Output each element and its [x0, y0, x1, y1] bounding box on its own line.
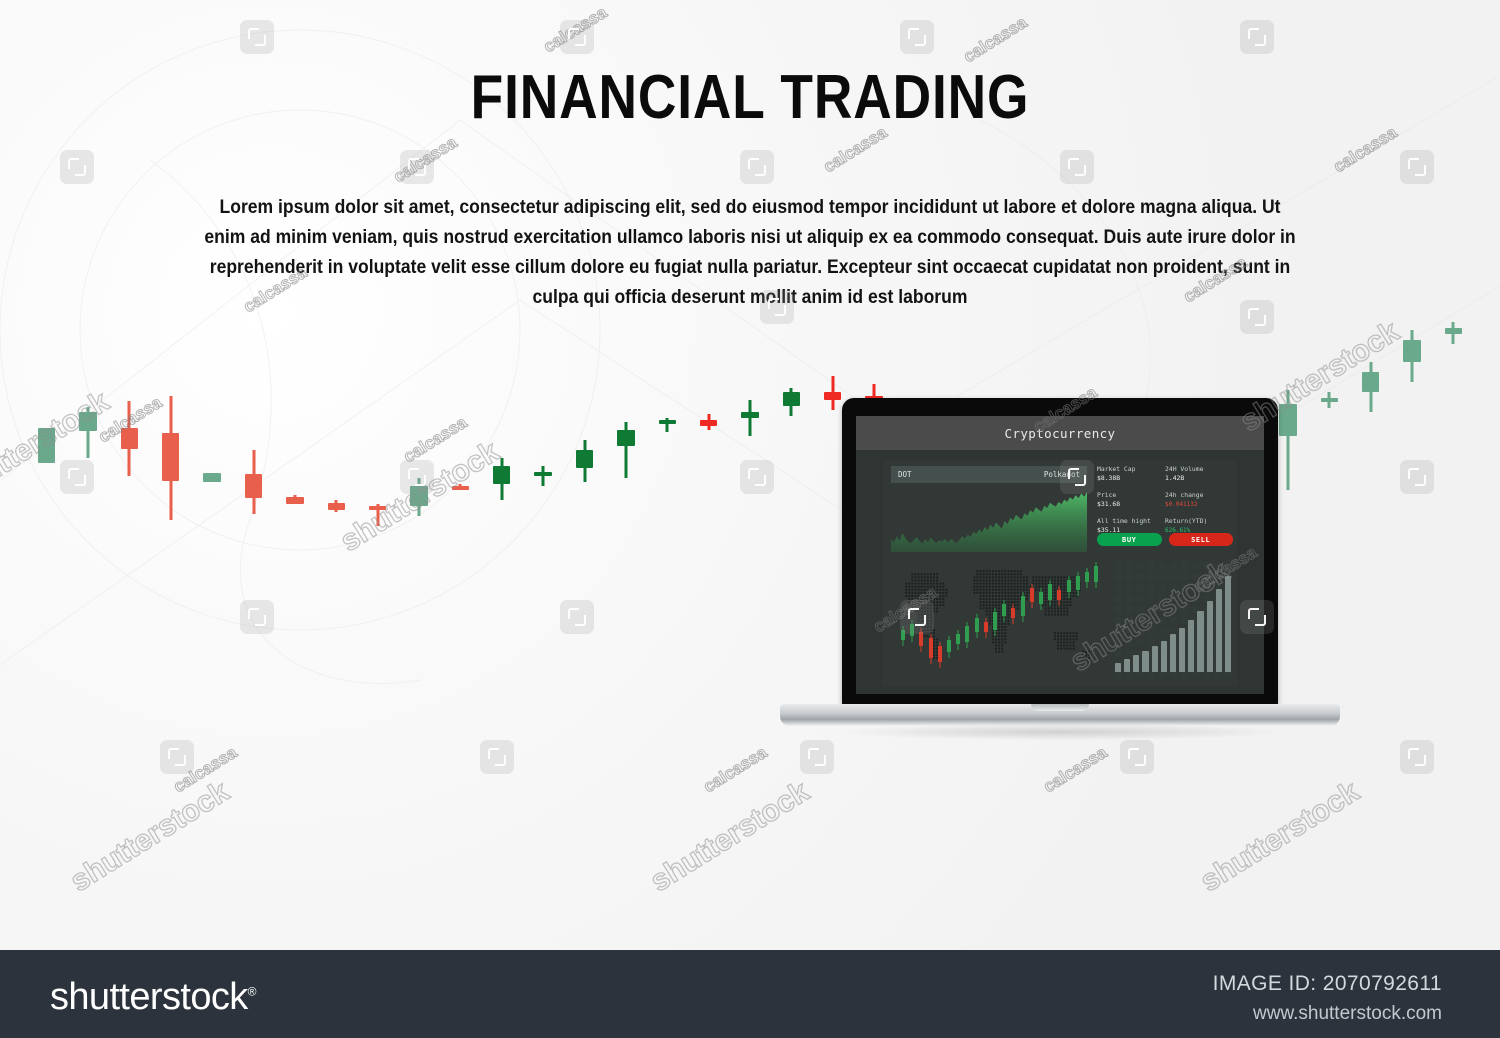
candlestick: [452, 484, 469, 490]
body-paragraph: Lorem ipsum dolor sit amet, consectetur …: [201, 192, 1299, 312]
buy-button[interactable]: BUY: [1097, 533, 1162, 546]
bar: [1152, 646, 1158, 672]
bar: [1170, 634, 1176, 672]
map-candlestick: [901, 626, 905, 646]
candle-body: [1362, 372, 1379, 392]
candle-body: [1039, 592, 1043, 604]
shutterstock-logo: shutterstock®: [50, 976, 256, 1019]
map-candlestick: [984, 618, 988, 638]
candle-body: [1094, 566, 1098, 582]
candlestick: [79, 407, 96, 458]
laptop-screen: Cryptocurrency DOT Polkadot Market Cap$8…: [856, 416, 1264, 694]
candle-body: [700, 420, 717, 426]
bar: [1188, 620, 1194, 672]
app-title-bar: Cryptocurrency: [856, 416, 1264, 450]
stat-label: 24h change: [1165, 491, 1233, 500]
candlestick: [328, 500, 345, 512]
candlestick: [245, 450, 262, 514]
candle-body: [741, 412, 758, 418]
candlestick: [617, 422, 634, 478]
map-candlestick: [1011, 604, 1015, 624]
bar: [1197, 611, 1203, 672]
bar: [1179, 628, 1185, 672]
candlestick: [493, 458, 510, 500]
poster-canvas: FINANCIAL TRADING Lorem ipsum dolor sit …: [0, 0, 1500, 1038]
stat-value: $8.38B: [1097, 474, 1165, 483]
candle-body: [901, 630, 905, 640]
bar: [1133, 655, 1139, 672]
candle-body: [121, 428, 138, 449]
shutterstock-url: www.shutterstock.com: [1213, 1003, 1442, 1025]
candle-wick: [748, 400, 751, 436]
candle-body: [1048, 584, 1052, 600]
map-candlestick: [1076, 572, 1080, 596]
bar: [1225, 576, 1231, 672]
candlestick: [576, 440, 593, 482]
candle-body: [1021, 596, 1025, 616]
candlestick: [38, 431, 55, 463]
ticker-name: Polkadot: [1044, 470, 1080, 479]
map-candlestick: [1067, 576, 1071, 598]
candlestick: [203, 473, 220, 482]
candlestick: [410, 478, 427, 516]
footer-meta: IMAGE ID: 2070792611 www.shutterstock.co…: [1213, 972, 1442, 1025]
candlestick: [534, 466, 551, 486]
candle-body: [617, 430, 634, 446]
map-candlestick: [993, 608, 997, 636]
map-candlestick: [1030, 584, 1034, 608]
map-candlestick: [965, 622, 969, 648]
stat-label: 24H Volume: [1165, 465, 1233, 474]
map-candlestick: [910, 620, 914, 642]
ticker-search-field[interactable]: DOT Polkadot: [891, 466, 1087, 483]
app-title: Cryptocurrency: [1005, 426, 1116, 441]
map-candlestick: [1057, 586, 1061, 606]
stat-label: All time hight: [1097, 517, 1165, 526]
candle-body: [369, 506, 386, 510]
candle-wick: [542, 466, 545, 486]
bar: [1207, 601, 1213, 672]
map-candlestick: [929, 634, 933, 664]
candle-body: [1076, 576, 1080, 590]
crypto-panel: DOT Polkadot Market Cap$8.38B24H Volume1…: [883, 460, 1237, 686]
map-candlestick: [1094, 562, 1098, 588]
bar: [1216, 589, 1222, 672]
bar: [1161, 641, 1167, 672]
map-candlestick: [1002, 600, 1006, 622]
price-area-chart: [891, 490, 1087, 552]
stat-item: 24H Volume1.42B: [1165, 465, 1233, 483]
stat-item: 24h change$0.041132: [1165, 491, 1233, 509]
ticker-symbol: DOT: [898, 470, 912, 479]
map-candlestick: [975, 614, 979, 638]
candle-body: [534, 472, 551, 476]
candle-body: [1067, 580, 1071, 592]
stat-value: $31.68: [1097, 500, 1165, 509]
order-buttons: BUY SELL: [1097, 533, 1233, 546]
stat-item: Market Cap$8.38B: [1097, 465, 1165, 483]
candlestick: [1445, 322, 1462, 344]
candle-body: [938, 646, 942, 662]
laptop-lid: Cryptocurrency DOT Polkadot Market Cap$8…: [842, 398, 1278, 706]
stats-grid: Market Cap$8.38B24H Volume1.42BPrice$31.…: [1097, 465, 1233, 543]
candlestick: [700, 414, 717, 430]
stat-value: $0.041132: [1165, 500, 1233, 509]
candle-body: [79, 412, 96, 431]
shutterstock-logo-text: shutterstock: [50, 976, 248, 1018]
candle-body: [203, 473, 220, 482]
stat-value: 1.42B: [1165, 474, 1233, 483]
area-chart-svg: [891, 490, 1087, 552]
map-candlestick: [938, 642, 942, 668]
candlestick: [659, 418, 676, 432]
laptop-mockup: Cryptocurrency DOT Polkadot Market Cap$8…: [780, 398, 1340, 758]
bar: [1142, 651, 1148, 672]
world-map-dots: [891, 554, 1107, 680]
candlestick: [741, 400, 758, 436]
app-body: DOT Polkadot Market Cap$8.38B24H Volume1…: [856, 450, 1264, 694]
candlestick: [369, 504, 386, 526]
bar: [1124, 659, 1130, 672]
map-candlestick: [1085, 568, 1089, 588]
candle-body: [1030, 588, 1034, 602]
candle-body: [1057, 590, 1061, 600]
candle-body: [929, 638, 933, 658]
candle-body: [1085, 572, 1089, 582]
candle-body: [1011, 608, 1015, 618]
map-candlestick: [1021, 592, 1025, 622]
candle-body: [1002, 604, 1006, 616]
laptop-notch: [1031, 704, 1089, 711]
candlestick: [162, 396, 179, 520]
sell-button[interactable]: SELL: [1169, 533, 1234, 546]
world-map-chart: [891, 554, 1107, 680]
candle-body: [493, 466, 510, 484]
candle-body: [328, 503, 345, 510]
registered-mark: ®: [248, 984, 256, 998]
candle-body: [162, 433, 179, 481]
candle-body: [410, 486, 427, 506]
candle-body: [1445, 328, 1462, 334]
candle-body: [910, 624, 914, 636]
stat-label: Return(YTD): [1165, 517, 1233, 526]
map-candlestick: [919, 628, 923, 652]
candle-body: [919, 632, 923, 646]
candle-body: [965, 626, 969, 642]
stat-item: Price$31.68: [1097, 491, 1165, 509]
candle-body: [947, 640, 951, 652]
candle-body: [956, 634, 960, 644]
candle-body: [452, 486, 469, 490]
map-candlestick: [956, 630, 960, 650]
candle-body: [576, 450, 593, 468]
footer-bar: shutterstock® IMAGE ID: 2070792611 www.s…: [0, 950, 1500, 1038]
stat-label: Market Cap: [1097, 465, 1165, 474]
laptop-shadow: [840, 724, 1280, 740]
candlestick: [121, 401, 138, 476]
candlestick: [1403, 330, 1420, 382]
map-candlestick: [1039, 588, 1043, 610]
candle-body: [1403, 340, 1420, 362]
candle-body: [975, 618, 979, 632]
candle-body: [993, 612, 997, 630]
page-title: FINANCIAL TRADING: [105, 62, 1395, 133]
bar: [1115, 663, 1121, 672]
candle-body: [38, 428, 55, 463]
candle-body: [659, 420, 676, 424]
map-candlestick: [947, 636, 951, 658]
image-id: IMAGE ID: 2070792611: [1213, 972, 1442, 996]
candlestick: [286, 495, 303, 504]
map-candlestick: [1048, 580, 1052, 606]
bar-chart-bars: [1115, 576, 1231, 672]
candle-body: [286, 497, 303, 504]
candle-body: [984, 622, 988, 632]
candlestick: [1362, 362, 1379, 412]
candle-body: [245, 474, 262, 498]
volume-bar-chart: [1111, 556, 1233, 678]
stat-label: Price: [1097, 491, 1165, 500]
